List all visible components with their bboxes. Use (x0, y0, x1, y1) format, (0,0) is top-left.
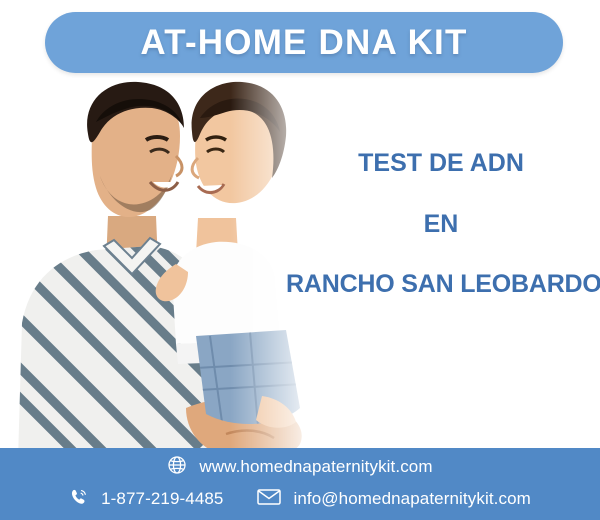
family-photo (0, 78, 320, 460)
footer-row-phone-email: 1-877-219-4485 info@homednapaternitykit.… (0, 484, 600, 514)
globe-icon (167, 455, 187, 480)
phone-text: 1-877-219-4485 (101, 489, 223, 509)
website-text: www.homednapaternitykit.com (199, 457, 432, 477)
family-photo-illustration (0, 78, 320, 460)
email-text: info@homednapaternitykit.com (293, 489, 530, 509)
header-banner: AT-HOME DNA KIT (45, 12, 563, 73)
envelope-icon (257, 488, 281, 511)
headline-block: TEST DE ADN EN RANCHO SAN LEOBARDO (286, 150, 596, 299)
phone-contact[interactable]: 1-877-219-4485 (69, 487, 223, 512)
website-contact[interactable]: www.homednapaternitykit.com (167, 455, 432, 480)
phone-icon (69, 487, 89, 512)
headline-line-2: EN (286, 211, 596, 239)
footer-row-website: www.homednapaternitykit.com (0, 452, 600, 482)
headline-line-1: TEST DE ADN (286, 150, 596, 178)
header-title: AT-HOME DNA KIT (140, 23, 467, 63)
contact-footer: www.homednapaternitykit.com 1-877-219-44… (0, 448, 600, 520)
email-contact[interactable]: info@homednapaternitykit.com (257, 488, 530, 511)
poster-canvas: AT-HOME DNA KIT (0, 0, 600, 520)
headline-line-3: RANCHO SAN LEOBARDO (286, 271, 596, 299)
